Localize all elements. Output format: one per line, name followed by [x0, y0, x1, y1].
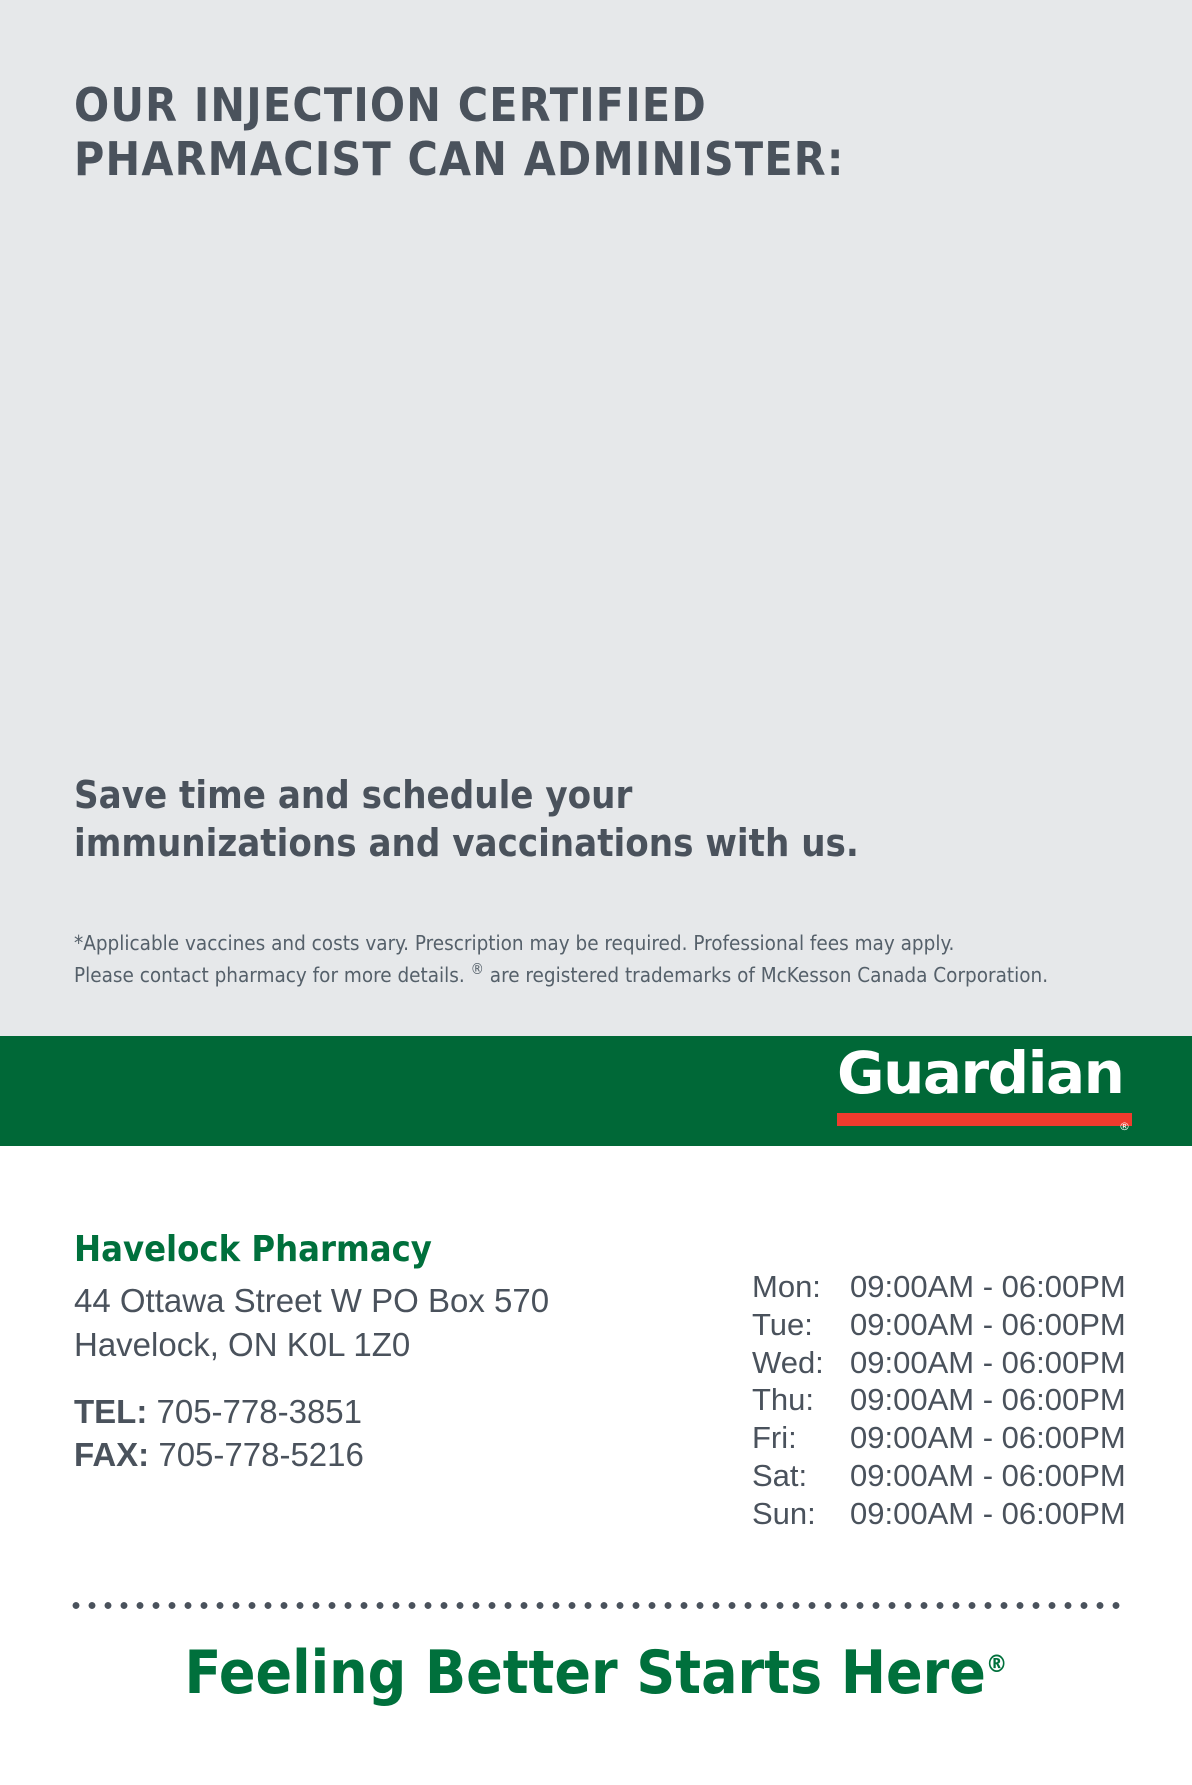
fax-value: 705-778-5216 — [158, 1436, 364, 1473]
store-name: Havelock Pharmacy — [74, 1228, 694, 1271]
page-title: OUR INJECTION CERTIFIED PHARMACIST CAN A… — [74, 78, 974, 187]
hours-day-label: Fri: — [752, 1419, 850, 1457]
guardian-wordmark: Guardian — [837, 1044, 1132, 1102]
hours-time-value: 09:00AM - 06:00PM — [850, 1381, 1126, 1419]
disclaimer-line-2: Please contact pharmacy for more details… — [74, 960, 1134, 992]
store-address-line-2: Havelock, ON K0L 1Z0 — [74, 1323, 694, 1367]
hours-row: Wed: 09:00AM - 06:00PM — [752, 1344, 1152, 1382]
subheadline-line-2: immunizations and vaccinations with us. — [74, 820, 974, 868]
store-telephone: TEL: 705-778-3851 — [74, 1391, 694, 1434]
hours-row: Fri: 09:00AM - 06:00PM — [752, 1419, 1152, 1457]
pharmacy-poster: OUR INJECTION CERTIFIED PHARMACIST CAN A… — [0, 0, 1192, 1785]
disclaimer-line-2-after: are registered trademarks of McKesson Ca… — [490, 963, 1048, 987]
hours-time-value: 09:00AM - 06:00PM — [850, 1495, 1126, 1533]
hours-row: Sun: 09:00AM - 06:00PM — [752, 1495, 1152, 1533]
hours-row: Tue: 09:00AM - 06:00PM — [752, 1306, 1152, 1344]
hours-day-label: Mon: — [752, 1268, 850, 1306]
hours-day-label: Wed: — [752, 1344, 850, 1382]
tagline: Feeling Better Starts Here® — [0, 1640, 1192, 1706]
store-fax: FAX: 705-778-5216 — [74, 1434, 694, 1477]
hours-row: Sat: 09:00AM - 06:00PM — [752, 1457, 1152, 1495]
fax-label: FAX: — [74, 1436, 149, 1473]
disclaimer-line-2-before: Please contact pharmacy for more details… — [74, 963, 465, 987]
guardian-red-rule — [837, 1113, 1132, 1126]
hours-day-label: Sat: — [752, 1457, 850, 1495]
tagline-text: Feeling Better Starts Here — [184, 1638, 985, 1708]
store-info-block: Havelock Pharmacy 44 Ottawa Street W PO … — [74, 1228, 694, 1477]
brand-band: Guardian ® — [0, 1036, 1192, 1146]
subheadline: Save time and schedule your immunization… — [74, 772, 974, 868]
registered-mark-icon: ® — [471, 961, 484, 978]
hours-time-value: 09:00AM - 06:00PM — [850, 1268, 1126, 1306]
disclaimer-line-1: *Applicable vaccines and costs vary. Pre… — [74, 928, 1134, 960]
hours-time-value: 09:00AM - 06:00PM — [850, 1457, 1126, 1495]
hours-day-label: Tue: — [752, 1306, 850, 1344]
hours-day-label: Sun: — [752, 1495, 850, 1533]
hours-row: Mon: 09:00AM - 06:00PM — [752, 1268, 1152, 1306]
subheadline-line-1: Save time and schedule your — [74, 772, 974, 820]
hours-time-value: 09:00AM - 06:00PM — [850, 1344, 1126, 1382]
bottom-panel: Havelock Pharmacy 44 Ottawa Street W PO … — [0, 1146, 1192, 1785]
top-panel: OUR INJECTION CERTIFIED PHARMACIST CAN A… — [0, 0, 1192, 1036]
store-address-line-1: 44 Ottawa Street W PO Box 570 — [74, 1279, 694, 1323]
headline-line-1: OUR INJECTION CERTIFIED — [74, 78, 974, 132]
store-hours-table: Mon: 09:00AM - 06:00PM Tue: 09:00AM - 06… — [752, 1268, 1152, 1533]
hours-row: Thu: 09:00AM - 06:00PM — [752, 1381, 1152, 1419]
headline-line-2: PHARMACIST CAN ADMINISTER: — [74, 132, 974, 186]
guardian-logo: Guardian ® — [837, 1050, 1132, 1132]
tagline-registered-mark-icon: ® — [986, 1650, 1008, 1678]
hours-time-value: 09:00AM - 06:00PM — [850, 1306, 1126, 1344]
telephone-label: TEL: — [74, 1393, 147, 1430]
hours-time-value: 09:00AM - 06:00PM — [850, 1419, 1126, 1457]
disclaimer-text: *Applicable vaccines and costs vary. Pre… — [74, 928, 1134, 992]
hours-day-label: Thu: — [752, 1381, 850, 1419]
guardian-registered-mark-icon: ® — [1119, 1121, 1130, 1132]
dotted-divider — [68, 1601, 1124, 1610]
telephone-value: 705-778-3851 — [157, 1393, 363, 1430]
